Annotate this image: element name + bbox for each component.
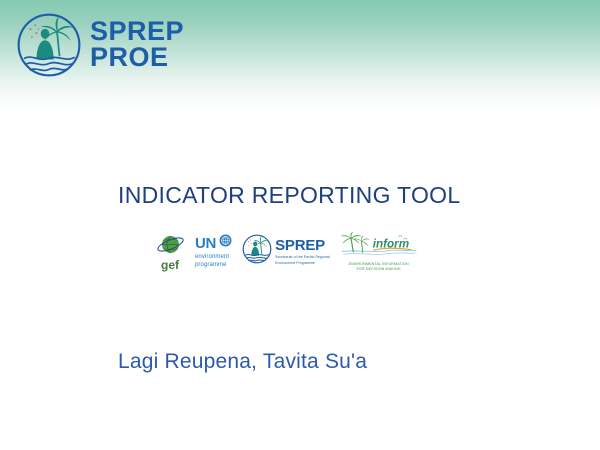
partner-logo-sprep: SPREP Secretariat of the Pacific Regiona… bbox=[242, 234, 330, 269]
unep-subline-2: programme bbox=[195, 262, 229, 270]
unep-wordmark: UN bbox=[195, 236, 216, 251]
sprep-circle-emblem-icon bbox=[16, 12, 82, 78]
sprep-brand-lockup: SPREP PROE bbox=[16, 12, 184, 78]
inform-palm-icon: inform bbox=[340, 232, 418, 263]
unep-subline-1: environment bbox=[195, 254, 229, 262]
slide-authors: Lagi Reupena, Tavita Su'a bbox=[118, 350, 367, 374]
sprep-wordmark: SPREP PROE bbox=[90, 19, 184, 70]
sprep-partner-tagline-1: Secretariat of the Pacific Regional bbox=[275, 255, 330, 260]
gef-globe-icon bbox=[155, 232, 185, 261]
sprep-partner-wordmark: SPREP bbox=[275, 238, 330, 253]
slide-title: INDICATOR REPORTING TOOL bbox=[118, 182, 460, 209]
sprep-partner-tagline-2: Environment Programme bbox=[275, 261, 330, 266]
partner-logo-strip: gef UN environment programme bbox=[155, 232, 418, 272]
un-emblem-icon bbox=[219, 234, 232, 252]
partner-logo-inform: inform ENVIRONMENTAL INFORMATION FOR DEC… bbox=[340, 232, 418, 272]
gef-wordmark: gef bbox=[161, 259, 179, 271]
inform-tagline-2: FOR DECISION MAKING bbox=[349, 267, 409, 272]
sprep-circle-emblem-icon bbox=[242, 234, 272, 269]
presentation-slide: SPREP PROE INDICATOR REPORTING TOOL gef bbox=[0, 0, 600, 450]
sprep-wordmark-line2: PROE bbox=[90, 45, 184, 71]
partner-logo-gef: gef bbox=[155, 232, 185, 271]
partner-logo-un-environment-programme: UN environment programme bbox=[195, 234, 232, 269]
